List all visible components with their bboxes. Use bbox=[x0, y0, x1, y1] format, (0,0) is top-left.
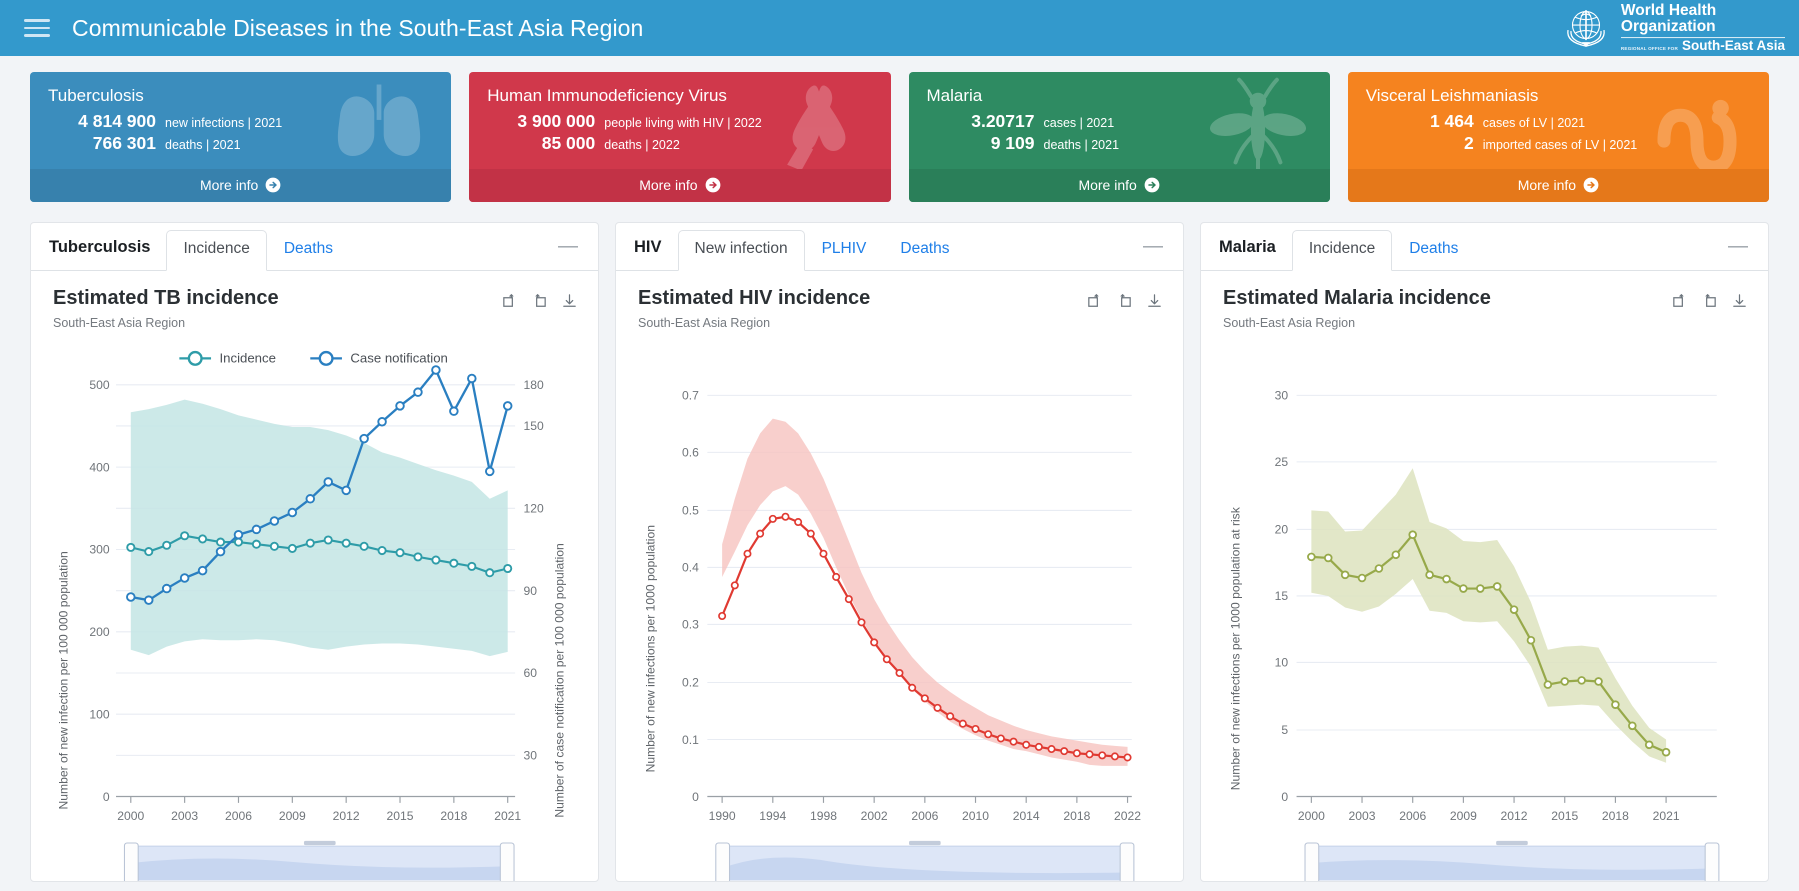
panel-brand-label: Tuberculosis bbox=[31, 238, 166, 270]
tab-bar: Malaria Incidence Deaths — bbox=[1201, 223, 1768, 271]
chart-title: Estimated Malaria incidence bbox=[1223, 287, 1671, 310]
chart-toolbar bbox=[1671, 287, 1748, 310]
svg-text:Case notification: Case notification bbox=[350, 351, 448, 366]
panel-tuberculosis: Tuberculosis Incidence Deaths — Estimate… bbox=[30, 222, 599, 882]
svg-text:2018: 2018 bbox=[440, 809, 467, 823]
more-info-button[interactable]: More info bbox=[469, 169, 890, 202]
chart-header: Estimated HIV incidence South-East Asia … bbox=[616, 271, 1183, 330]
logo-regional-prefix: REGIONAL OFFICE FOR bbox=[1621, 47, 1678, 52]
kpi-value: 4 814 900 bbox=[48, 111, 156, 132]
svg-text:2015: 2015 bbox=[387, 809, 414, 823]
share-icon[interactable] bbox=[531, 293, 548, 310]
kpi-value: 1 464 bbox=[1366, 111, 1474, 132]
kpi-value: 766 301 bbox=[48, 133, 156, 154]
svg-text:Number of new infections per 1: Number of new infections per 1000 popula… bbox=[1229, 506, 1243, 790]
svg-text:30: 30 bbox=[524, 749, 538, 763]
range-slider[interactable] bbox=[1305, 841, 1719, 881]
uncertainty-band bbox=[1311, 468, 1666, 763]
chart-malaria-incidence[interactable]: Number of new infections per 1000 popula… bbox=[1201, 330, 1768, 881]
range-slider[interactable] bbox=[124, 841, 514, 881]
svg-text:0: 0 bbox=[1281, 790, 1288, 804]
uncertainty-band bbox=[722, 419, 1127, 766]
chart-title: Estimated HIV incidence bbox=[638, 287, 1086, 310]
share-icon[interactable] bbox=[1116, 293, 1133, 310]
svg-text:120: 120 bbox=[524, 502, 544, 516]
hamburger-menu-icon[interactable] bbox=[24, 17, 50, 39]
svg-text:2000: 2000 bbox=[117, 809, 144, 823]
kpi-label: deaths | 2022 bbox=[604, 138, 680, 152]
download-icon[interactable] bbox=[1731, 293, 1748, 310]
pin-icon[interactable] bbox=[1671, 293, 1688, 310]
range-slider[interactable] bbox=[716, 841, 1134, 881]
kpi-stat-row: 1 464 cases of LV | 2021 bbox=[1366, 111, 1751, 132]
svg-text:90: 90 bbox=[524, 584, 538, 598]
svg-text:0.2: 0.2 bbox=[682, 676, 699, 690]
svg-text:0: 0 bbox=[692, 790, 699, 804]
download-icon[interactable] bbox=[561, 293, 578, 310]
svg-text:2015: 2015 bbox=[1551, 809, 1578, 823]
kpi-stat-row: 85 000 deaths | 2022 bbox=[487, 133, 872, 154]
kpi-body: Malaria 3.20717 cases | 2021 9 109 death… bbox=[909, 72, 1330, 169]
svg-text:25: 25 bbox=[1275, 455, 1289, 469]
svg-text:0: 0 bbox=[103, 790, 110, 804]
chart-panel-row: Tuberculosis Incidence Deaths — Estimate… bbox=[0, 202, 1799, 882]
chart-title: Estimated TB incidence bbox=[53, 287, 501, 310]
share-icon[interactable] bbox=[1701, 293, 1718, 310]
kpi-body: Tuberculosis 4 814 900 new infections | … bbox=[30, 72, 451, 169]
arrow-right-circle-icon bbox=[265, 177, 281, 193]
svg-text:20: 20 bbox=[1275, 523, 1289, 537]
svg-text:1994: 1994 bbox=[759, 809, 786, 823]
chart-subtitle: South-East Asia Region bbox=[1223, 316, 1671, 330]
svg-text:2018: 2018 bbox=[1063, 809, 1090, 823]
svg-text:200: 200 bbox=[89, 625, 109, 639]
kpi-value: 9 109 bbox=[927, 133, 1035, 154]
kpi-label: deaths | 2021 bbox=[165, 138, 241, 152]
svg-text:60: 60 bbox=[524, 666, 538, 680]
kpi-body: Human Immunodeficiency Virus 3 900 000 p… bbox=[469, 72, 890, 169]
svg-text:2022: 2022 bbox=[1114, 809, 1141, 823]
svg-text:0.1: 0.1 bbox=[682, 733, 699, 747]
pin-icon[interactable] bbox=[1086, 293, 1103, 310]
svg-text:0.7: 0.7 bbox=[682, 389, 699, 403]
chart-subtitle: South-East Asia Region bbox=[638, 316, 1086, 330]
svg-text:30: 30 bbox=[1275, 389, 1289, 403]
kpi-label: imported cases of LV | 2021 bbox=[1483, 138, 1638, 152]
page-title: Communicable Diseases in the South-East … bbox=[72, 15, 643, 42]
kpi-title: Tuberculosis bbox=[48, 86, 433, 106]
svg-text:2014: 2014 bbox=[1013, 809, 1040, 823]
svg-text:500: 500 bbox=[89, 378, 109, 392]
kpi-label: deaths | 2021 bbox=[1044, 138, 1120, 152]
svg-text:2003: 2003 bbox=[1349, 809, 1376, 823]
kpi-label: cases of LV | 2021 bbox=[1483, 116, 1585, 130]
chart-tb-incidence[interactable]: Number of new infection per 100 000 popu… bbox=[31, 330, 598, 881]
tab-bar: HIV New infection PLHIV Deaths — bbox=[616, 223, 1183, 271]
more-info-label: More info bbox=[1518, 177, 1576, 193]
kpi-label: new infections | 2021 bbox=[165, 116, 282, 130]
more-info-label: More info bbox=[1078, 177, 1136, 193]
svg-text:2000: 2000 bbox=[1298, 809, 1325, 823]
kpi-value: 3.20717 bbox=[927, 111, 1035, 132]
kpi-value: 85 000 bbox=[487, 133, 595, 154]
collapse-button[interactable]: — bbox=[1135, 236, 1171, 270]
who-logo: World Health Organization REGIONAL OFFIC… bbox=[1560, 3, 1785, 53]
chart-header: Estimated TB incidence South-East Asia R… bbox=[31, 271, 598, 330]
svg-text:400: 400 bbox=[89, 460, 109, 474]
more-info-button[interactable]: More info bbox=[30, 169, 451, 202]
logo-line-1: World Health bbox=[1621, 3, 1785, 19]
chart-legend: Incidence Case notification bbox=[179, 351, 448, 366]
svg-text:Number of new infection per 10: Number of new infection per 100 000 popu… bbox=[56, 551, 70, 809]
kpi-stat-row: 3 900 000 people living with HIV | 2022 bbox=[487, 111, 872, 132]
svg-text:150: 150 bbox=[524, 419, 544, 433]
tab-bar: Tuberculosis Incidence Deaths — bbox=[31, 223, 598, 271]
svg-text:Number of case notification pe: Number of case notification per 100 000 … bbox=[553, 543, 567, 817]
kpi-body: Visceral Leishmaniasis 1 464 cases of LV… bbox=[1348, 72, 1769, 169]
tab-hiv-plhiv[interactable]: PLHIV bbox=[805, 230, 884, 271]
more-info-label: More info bbox=[639, 177, 697, 193]
svg-text:2006: 2006 bbox=[225, 809, 252, 823]
svg-text:2006: 2006 bbox=[1399, 809, 1426, 823]
svg-text:2009: 2009 bbox=[1450, 809, 1477, 823]
chart-toolbar bbox=[1086, 287, 1163, 310]
tab-tb-deaths[interactable]: Deaths bbox=[267, 230, 350, 271]
kpi-value: 3 900 000 bbox=[487, 111, 595, 132]
more-info-button[interactable]: More info bbox=[909, 169, 1330, 202]
kpi-stat-row: 2 imported cases of LV | 2021 bbox=[1366, 133, 1751, 154]
svg-text:1990: 1990 bbox=[709, 809, 736, 823]
more-info-label: More info bbox=[200, 177, 258, 193]
tab-tb-incidence[interactable]: Incidence bbox=[166, 230, 266, 271]
kpi-label: cases | 2021 bbox=[1044, 116, 1115, 130]
tab-hiv-new-infection[interactable]: New infection bbox=[678, 230, 805, 271]
panel-brand-label: HIV bbox=[616, 238, 678, 270]
tab-malaria-incidence[interactable]: Incidence bbox=[1292, 230, 1392, 271]
kpi-stat-row: 3.20717 cases | 2021 bbox=[927, 111, 1312, 132]
kpi-title: Human Immunodeficiency Virus bbox=[487, 86, 872, 106]
kpi-card-hiv[interactable]: Human Immunodeficiency Virus 3 900 000 p… bbox=[469, 72, 890, 202]
download-icon[interactable] bbox=[1146, 293, 1163, 310]
svg-text:180: 180 bbox=[524, 378, 544, 392]
panel-malaria: Malaria Incidence Deaths — Estimated Mal… bbox=[1200, 222, 1769, 882]
kpi-title: Malaria bbox=[927, 86, 1312, 106]
svg-text:5: 5 bbox=[1281, 723, 1288, 737]
tab-malaria-deaths[interactable]: Deaths bbox=[1392, 230, 1475, 271]
svg-text:2012: 2012 bbox=[333, 809, 360, 823]
kpi-card-visceral-leishmaniasis[interactable]: Visceral Leishmaniasis 1 464 cases of LV… bbox=[1348, 72, 1769, 202]
svg-text:2018: 2018 bbox=[1602, 809, 1629, 823]
svg-text:2021: 2021 bbox=[494, 809, 521, 823]
kpi-title: Visceral Leishmaniasis bbox=[1366, 86, 1751, 106]
arrow-right-circle-icon bbox=[1144, 177, 1160, 193]
svg-text:2012: 2012 bbox=[1501, 809, 1528, 823]
app-header: Communicable Diseases in the South-East … bbox=[0, 0, 1799, 56]
panel-hiv: HIV New infection PLHIV Deaths — Estimat… bbox=[615, 222, 1184, 882]
kpi-card-tuberculosis[interactable]: Tuberculosis 4 814 900 new infections | … bbox=[30, 72, 451, 202]
chart-header: Estimated Malaria incidence South-East A… bbox=[1201, 271, 1768, 330]
svg-text:0.3: 0.3 bbox=[682, 618, 699, 632]
kpi-stat-row: 9 109 deaths | 2021 bbox=[927, 133, 1312, 154]
arrow-right-circle-icon bbox=[1583, 177, 1599, 193]
svg-text:2021: 2021 bbox=[1653, 809, 1680, 823]
tab-hiv-deaths[interactable]: Deaths bbox=[883, 230, 966, 271]
svg-text:0.6: 0.6 bbox=[682, 446, 699, 460]
svg-text:100: 100 bbox=[89, 707, 109, 721]
chart-hiv-incidence[interactable]: Number of new infections per 1000 popula… bbox=[616, 330, 1183, 881]
svg-text:2010: 2010 bbox=[962, 809, 989, 823]
kpi-value: 2 bbox=[1366, 133, 1474, 154]
series-new-infections bbox=[722, 517, 1127, 758]
collapse-button[interactable]: — bbox=[1720, 236, 1756, 270]
svg-text:0.5: 0.5 bbox=[682, 504, 699, 518]
who-emblem-icon bbox=[1560, 4, 1612, 52]
svg-text:2002: 2002 bbox=[861, 809, 888, 823]
kpi-stat-row: 4 814 900 new infections | 2021 bbox=[48, 111, 433, 132]
svg-text:1998: 1998 bbox=[810, 809, 837, 823]
uncertainty-band bbox=[131, 400, 508, 657]
logo-region: South-East Asia bbox=[1682, 39, 1785, 53]
svg-text:0.4: 0.4 bbox=[682, 561, 699, 575]
kpi-card-row: Tuberculosis 4 814 900 new infections | … bbox=[0, 56, 1799, 202]
kpi-card-malaria[interactable]: Malaria 3.20717 cases | 2021 9 109 death… bbox=[909, 72, 1330, 202]
svg-text:15: 15 bbox=[1275, 589, 1289, 603]
collapse-button[interactable]: — bbox=[550, 236, 586, 270]
svg-text:2009: 2009 bbox=[279, 809, 306, 823]
more-info-button[interactable]: More info bbox=[1348, 169, 1769, 202]
kpi-stat-row: 766 301 deaths | 2021 bbox=[48, 133, 433, 154]
svg-text:Number of new infections per 1: Number of new infections per 1000 popula… bbox=[644, 525, 658, 772]
svg-text:2003: 2003 bbox=[171, 809, 198, 823]
kpi-label: people living with HIV | 2022 bbox=[604, 116, 762, 130]
panel-brand-label: Malaria bbox=[1201, 238, 1292, 270]
svg-text:10: 10 bbox=[1275, 656, 1289, 670]
chart-subtitle: South-East Asia Region bbox=[53, 316, 501, 330]
svg-text:Incidence: Incidence bbox=[219, 351, 275, 366]
chart-toolbar bbox=[501, 287, 578, 310]
arrow-right-circle-icon bbox=[705, 177, 721, 193]
svg-text:2006: 2006 bbox=[911, 809, 938, 823]
svg-text:300: 300 bbox=[89, 543, 109, 557]
logo-line-2: Organization bbox=[1621, 19, 1785, 35]
pin-icon[interactable] bbox=[501, 293, 518, 310]
